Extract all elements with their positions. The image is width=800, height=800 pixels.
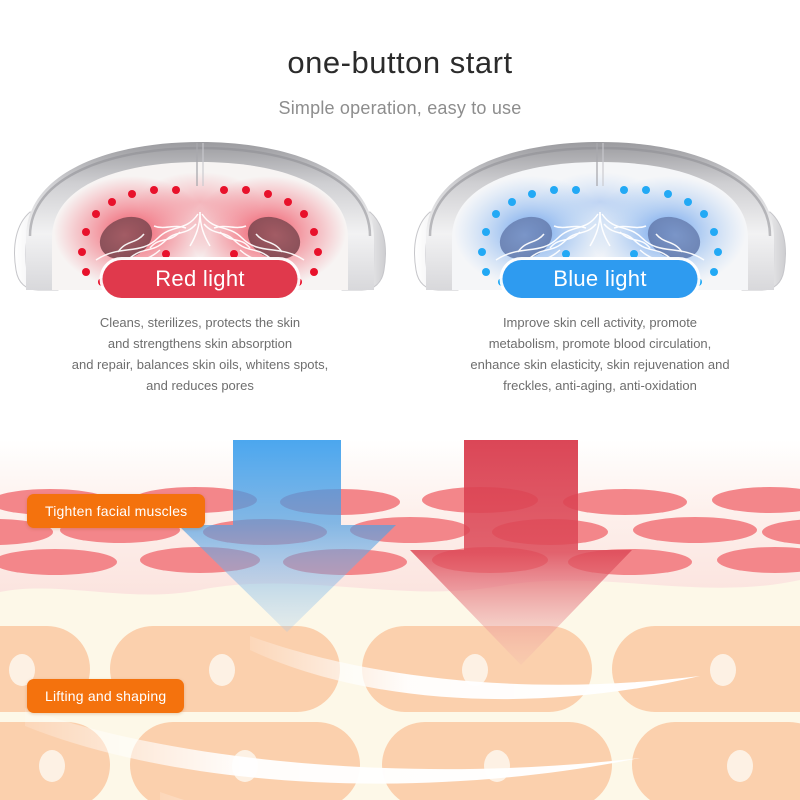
desc-line: enhance skin elasticity, skin rejuvenati…	[428, 354, 772, 375]
badge-text: Tighten facial muscles	[45, 503, 187, 519]
page-header: one-button start Simple operation, easy …	[0, 0, 800, 130]
badge-lifting-and-shaping[interactable]: Lifting and shaping	[27, 679, 184, 713]
description-blue-light: Improve skin cell activity, promote meta…	[400, 312, 800, 396]
panel-blue-light: Blue light Improve skin cell activity, p…	[400, 140, 800, 405]
light-mode-panels: Red light Cleans, sterilizes, protects t…	[0, 140, 800, 405]
panel-red-light: Red light Cleans, sterilizes, protects t…	[0, 140, 400, 405]
description-red-light: Cleans, sterilizes, protects the skin an…	[0, 312, 400, 396]
desc-line: Cleans, sterilizes, protects the skin	[28, 312, 372, 333]
desc-line: metabolism, promote blood circulation,	[428, 333, 772, 354]
desc-line: Improve skin cell activity, promote	[428, 312, 772, 333]
desc-line: and strengthens skin absorption	[28, 333, 372, 354]
badge-tighten-facial-muscles[interactable]: Tighten facial muscles	[27, 494, 205, 528]
pill-text: Blue light	[553, 266, 647, 292]
badge-text: Lifting and shaping	[45, 688, 166, 704]
page-title: one-button start	[0, 0, 800, 78]
desc-line: freckles, anti-aging, anti-oxidation	[428, 375, 772, 396]
pill-label-red-light[interactable]: Red light	[103, 260, 298, 298]
pill-label-blue-light[interactable]: Blue light	[503, 260, 698, 298]
pill-text: Red light	[155, 266, 245, 292]
desc-line: and reduces pores	[28, 375, 372, 396]
product-infographic-page: one-button start Simple operation, easy …	[0, 0, 800, 800]
desc-line: and repair, balances skin oils, whitens …	[28, 354, 372, 375]
page-subtitle: Simple operation, easy to use	[0, 78, 800, 119]
